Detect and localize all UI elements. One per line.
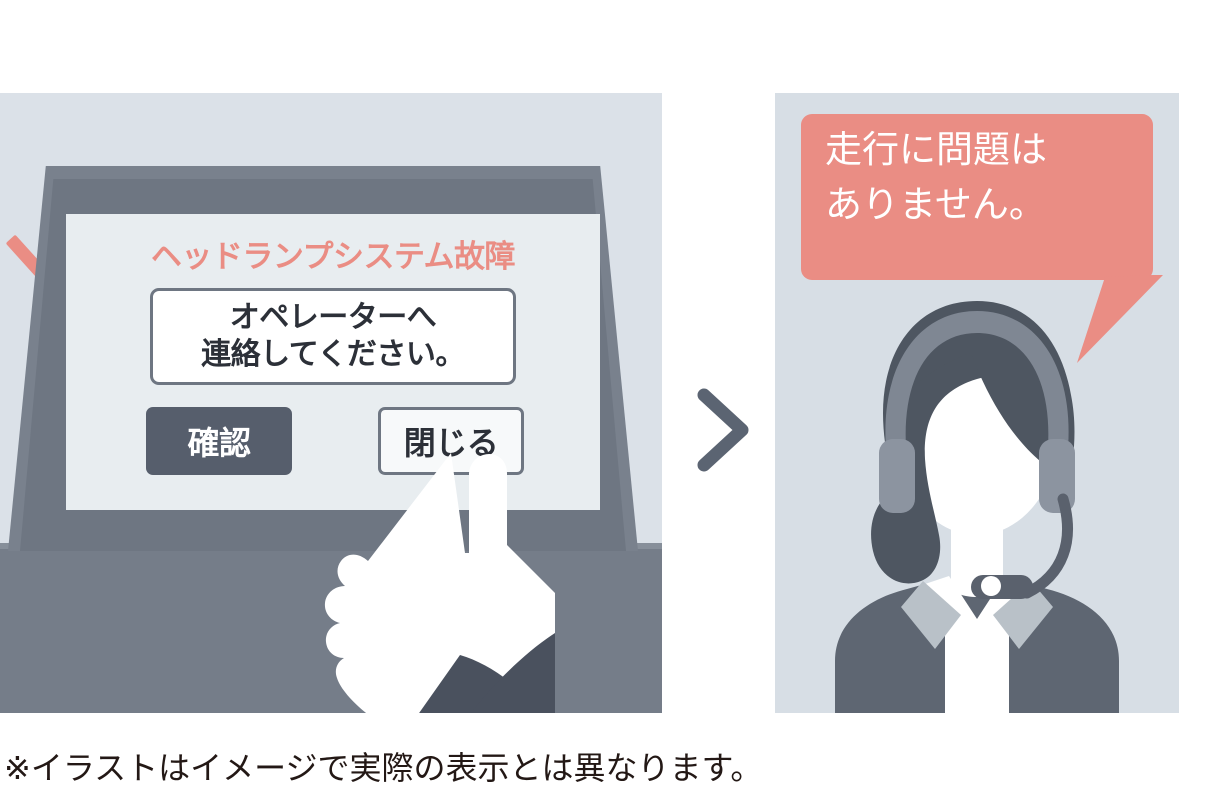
operator-panel: 走行に問題は ありません。: [775, 93, 1179, 713]
footnote-caption: ※イラストはイメージで実際の表示とは異なります。: [4, 743, 762, 789]
pointing-hand-icon: [255, 453, 555, 713]
alert-title: ヘッドランプシステム故障: [66, 231, 600, 276]
chevron-right-icon: [690, 385, 760, 475]
message-line-1: オペレーターへ: [230, 300, 437, 337]
message-line-2: 連絡してください。: [201, 337, 465, 374]
suit-button: [981, 576, 1001, 596]
operator-avatar: [775, 263, 1179, 713]
message-box: オペレーターへ 連絡してください。: [150, 288, 516, 385]
bubble-line-1: 走行に問題は: [825, 123, 1125, 178]
car-display-panel: ヘッドランプシステム故障 オペレーターへ 連絡してください。 確認 閉じる: [0, 93, 662, 713]
illustration-stage: ヘッドランプシステム故障 オペレーターへ 連絡してください。 確認 閉じる: [0, 0, 1216, 810]
bubble-line-2: ありません。: [825, 178, 1125, 233]
suit-button: [981, 624, 1001, 644]
speech-bubble-text: 走行に問題は ありません。: [825, 123, 1125, 233]
